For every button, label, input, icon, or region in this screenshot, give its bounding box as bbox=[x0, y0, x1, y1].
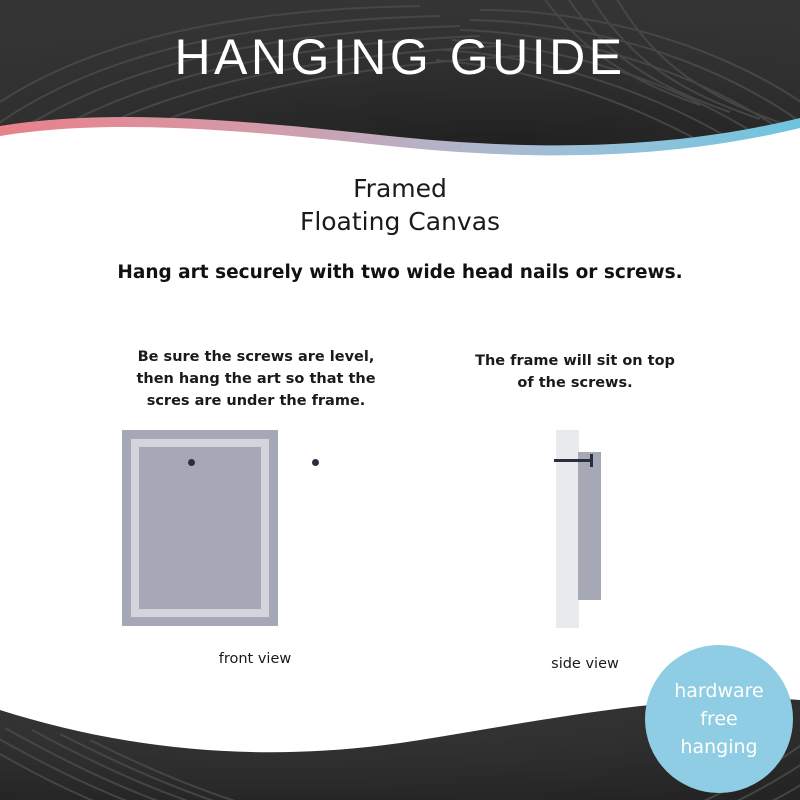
product-title-line-2: Floating Canvas bbox=[0, 205, 800, 238]
badge-line-1: hardware bbox=[674, 677, 764, 705]
badge-line-2: free bbox=[700, 705, 737, 733]
front-view-note-line-2: then hang the art so that the bbox=[106, 368, 406, 390]
side-view-note: The frame will sit on top of the screws. bbox=[450, 350, 700, 394]
front-view-diagram bbox=[122, 430, 278, 626]
canvas-area bbox=[139, 447, 261, 609]
front-view-caption: front view bbox=[145, 651, 365, 667]
screw-dot-right bbox=[312, 459, 319, 466]
nail-head-icon bbox=[590, 454, 593, 467]
side-view-note-line-2: of the screws. bbox=[450, 372, 700, 394]
hanging-guide-page: HANGING GUIDE Framed Floating Canvas Han… bbox=[0, 0, 800, 800]
front-view-note-line-3: scres are under the frame. bbox=[106, 390, 406, 412]
frame-strip bbox=[578, 452, 601, 600]
header-banner: HANGING GUIDE bbox=[0, 0, 800, 160]
screw-dot-left bbox=[188, 459, 195, 466]
side-view-note-line-1: The frame will sit on top bbox=[450, 350, 700, 372]
product-title-line-1: Framed bbox=[353, 174, 447, 203]
nail-shaft-icon bbox=[554, 459, 592, 462]
front-view-note-line-1: Be sure the screws are level, bbox=[106, 346, 406, 368]
page-title: HANGING GUIDE bbox=[0, 28, 800, 86]
hardware-free-badge: hardware free hanging bbox=[645, 645, 793, 793]
product-title: Framed Floating Canvas bbox=[0, 172, 800, 238]
instruction-lede: Hang art securely with two wide head nai… bbox=[0, 262, 800, 283]
badge-line-3: hanging bbox=[680, 733, 757, 761]
front-view-note: Be sure the screws are level, then hang … bbox=[106, 346, 406, 412]
side-view-diagram bbox=[556, 430, 626, 630]
